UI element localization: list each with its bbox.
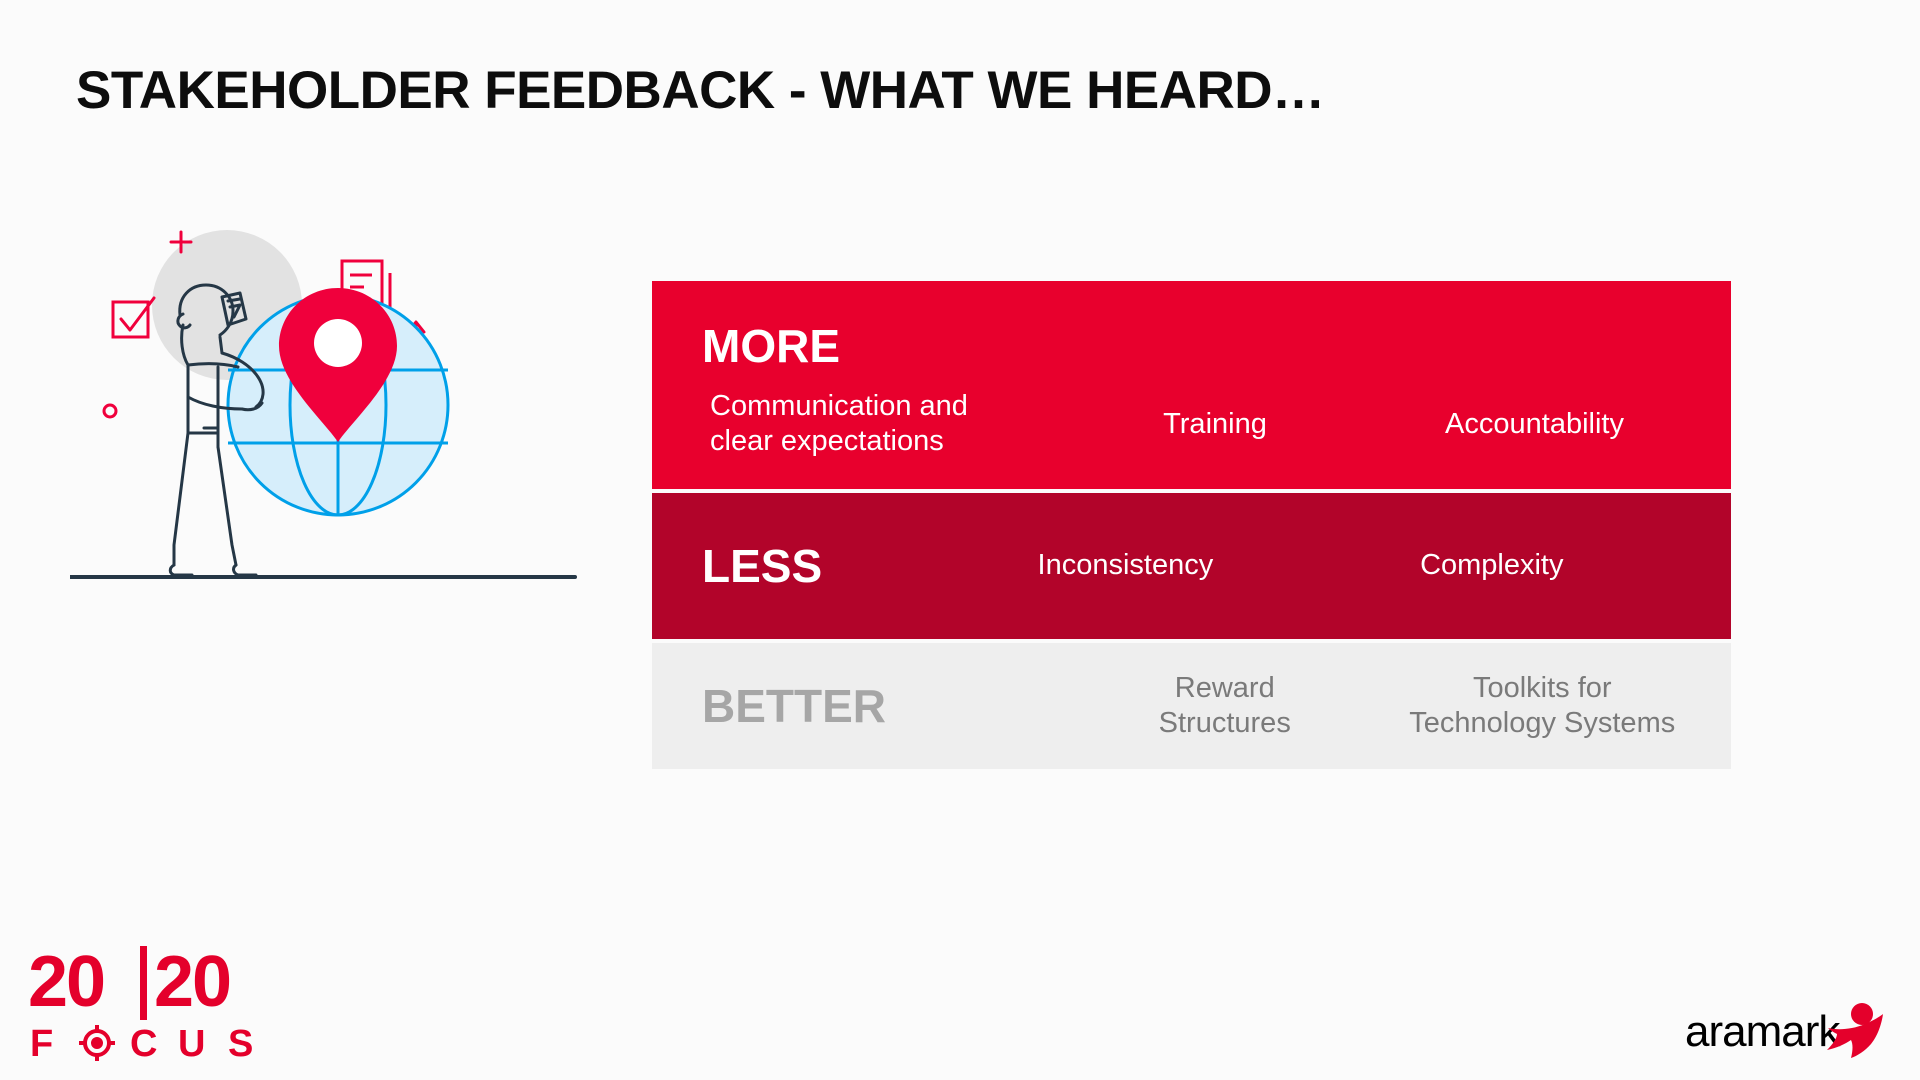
feedback-row-less: LESS Inconsistency Complexity <box>652 493 1731 639</box>
logo-focus-letter-u: U <box>178 1023 205 1064</box>
logo-2020-focus: 20 20 F C U S <box>28 944 278 1064</box>
logo-2020-text: 20 <box>154 944 230 1022</box>
checkbox-checked-icon <box>113 298 154 337</box>
feedback-item: Reward Structures <box>1066 671 1384 742</box>
logo-2020-text: 20 <box>28 944 104 1022</box>
logo-aramark: aramark <box>1685 1000 1885 1062</box>
feedback-item: Inconsistency <box>942 548 1308 583</box>
crosshair-target-icon <box>79 1025 115 1061</box>
feedback-item: Toolkits for Technology Systems <box>1384 671 1732 742</box>
feedback-table: MORE Communication and clear expectation… <box>652 281 1731 769</box>
feedback-row-better: BETTER Reward Structures Toolkits for Te… <box>652 643 1731 769</box>
illustration-person-with-globe <box>70 215 590 655</box>
aramark-wordmark: aramark <box>1685 1007 1841 1056</box>
logo-focus-letter-c: C <box>130 1023 157 1064</box>
row-label-more: MORE <box>702 323 840 369</box>
logo-divider <box>140 946 147 1020</box>
logo-focus-letter-f: F <box>30 1023 53 1064</box>
page-title: STAKEHOLDER FEEDBACK - WHAT WE HEARD… <box>76 60 1325 121</box>
feedback-item: Training <box>1052 407 1378 442</box>
logo-focus-letter-s: S <box>228 1023 253 1064</box>
feedback-item: Complexity <box>1309 548 1731 583</box>
row-label-less: LESS <box>702 543 822 589</box>
row-label-better: BETTER <box>702 683 886 729</box>
feedback-item: Communication and clear expectations <box>702 389 1052 460</box>
feedback-item: Accountability <box>1378 407 1731 442</box>
feedback-row-more: MORE Communication and clear expectation… <box>652 281 1731 489</box>
small-circle-icon <box>104 405 116 417</box>
